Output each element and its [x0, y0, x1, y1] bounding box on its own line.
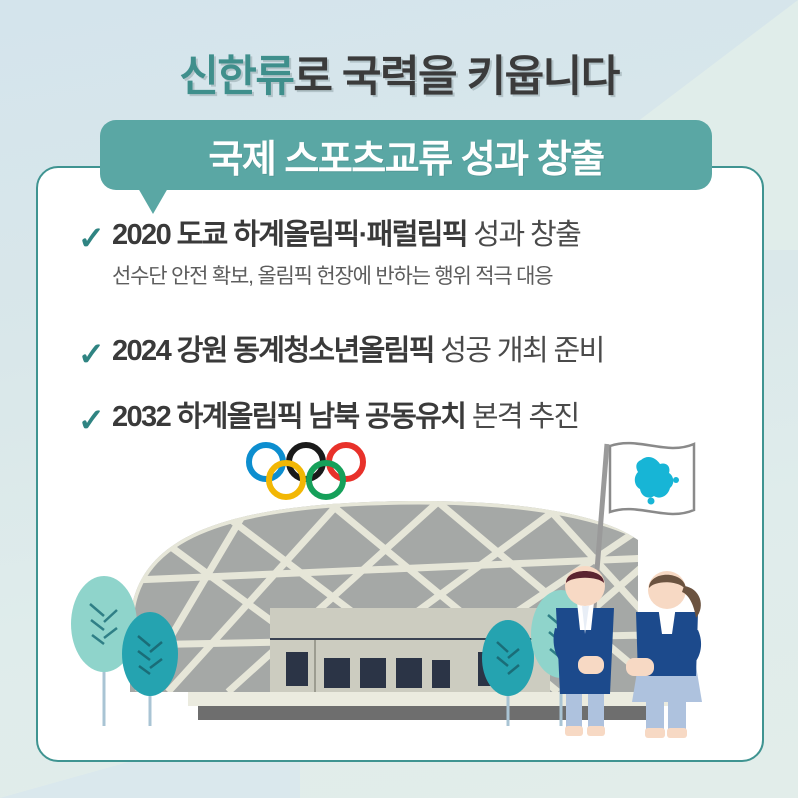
window: [396, 658, 422, 688]
list-item: ✓ 2024 강원 동계청소년올림픽 성공 개최 준비: [78, 334, 738, 370]
page-title-rest: 로 국력을 키웁니다: [293, 53, 618, 101]
bullet-normal: 성공 개최 준비: [434, 335, 604, 367]
content-card: ✓ 2020 도쿄 하계올림픽·패럴림픽 성과 창출 선수단 안전 확보, 올림…: [36, 166, 764, 762]
banner-tail: [138, 188, 168, 214]
bullet-bold: 2032 하계올림픽 남북 공동유치: [112, 401, 465, 433]
bullet-subtext: 선수단 안전 확보, 올림픽 헌장에 반하는 행위 적극 대응: [112, 260, 738, 290]
section-banner: 국제 스포츠교류 성과 창출: [100, 120, 712, 190]
bullet-normal: 본격 추진: [465, 401, 578, 433]
olympic-illustration: [38, 430, 764, 760]
window: [432, 660, 450, 688]
check-icon: ✓: [78, 222, 112, 254]
bullet-text: 2024 강원 동계청소년올림픽 성공 개최 준비: [112, 334, 604, 369]
bullet-normal: 성과 창출: [467, 219, 580, 251]
page-title-accent: 신한류: [179, 53, 293, 101]
section-banner-label: 국제 스포츠교류 성과 창출: [208, 128, 603, 183]
window: [360, 658, 386, 688]
window: [324, 658, 350, 688]
bullet-list: ✓ 2020 도쿄 하계올림픽·패럴림픽 성과 창출 선수단 안전 확보, 올림…: [78, 218, 738, 436]
check-icon: ✓: [78, 338, 112, 370]
bullet-bold: 2020 도쿄 하계올림픽·패럴림픽: [112, 219, 467, 251]
list-item: ✓ 2020 도쿄 하계올림픽·패럴림픽 성과 창출: [78, 218, 738, 254]
page-title: 신한류로 국력을 키웁니다: [0, 42, 798, 104]
bullet-text: 2020 도쿄 하계올림픽·패럴림픽 성과 창출: [112, 218, 580, 253]
olympic-rings-icon: [249, 445, 363, 497]
bullet-bold: 2024 강원 동계청소년올림픽: [112, 335, 434, 367]
tree-left-2: [122, 612, 178, 726]
window: [286, 652, 308, 686]
